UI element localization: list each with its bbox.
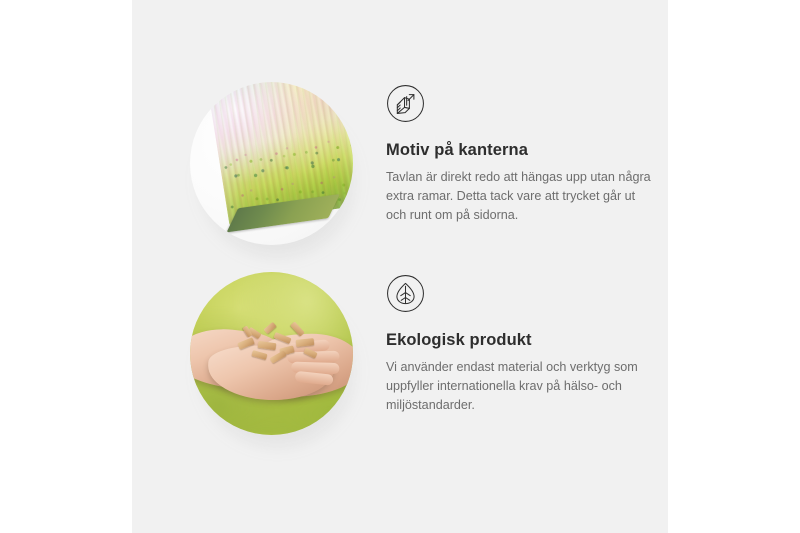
wood-chip — [251, 350, 267, 360]
feature-image-eco — [190, 272, 365, 447]
feature-description: Vi använder endast material och verktyg … — [386, 358, 654, 415]
wood-chip — [290, 321, 304, 336]
circular-image-mask — [190, 272, 353, 435]
canvas-print-corner-photo — [190, 82, 353, 245]
feature-description: Tavlan är direkt redo att hängas upp uta… — [386, 168, 654, 225]
feature-image-canvas-print — [190, 82, 365, 257]
content-panel: Motiv på kanterna Tavlan är direkt redo … — [132, 0, 668, 533]
wood-chips — [234, 320, 326, 368]
feature-text-block: Ekologisk produkt Vi använder endast mat… — [365, 272, 668, 415]
circular-image-mask — [190, 82, 353, 245]
wood-chip — [296, 338, 315, 347]
wood-chip — [273, 332, 291, 344]
feature-row: Motiv på kanterna Tavlan är direkt redo … — [132, 82, 668, 257]
feature-text-block: Motiv på kanterna Tavlan är direkt redo … — [365, 82, 668, 225]
wood-chip — [270, 350, 287, 363]
wood-chip — [258, 341, 277, 350]
product-feature-banner: Motiv på kanterna Tavlan är direkt redo … — [0, 0, 800, 533]
leaf-icon — [386, 274, 425, 313]
wood-chip — [303, 347, 317, 358]
canvas-block — [206, 82, 353, 226]
feature-title: Motiv på kanterna — [386, 141, 668, 161]
hands-holding-wood-chips-photo — [190, 272, 353, 435]
feature-title: Ekologisk produkt — [386, 331, 668, 351]
wood-chip — [237, 337, 254, 349]
canvas-wrapped-edge-icon — [386, 84, 425, 123]
feature-row: Ekologisk produkt Vi använder endast mat… — [132, 272, 668, 447]
